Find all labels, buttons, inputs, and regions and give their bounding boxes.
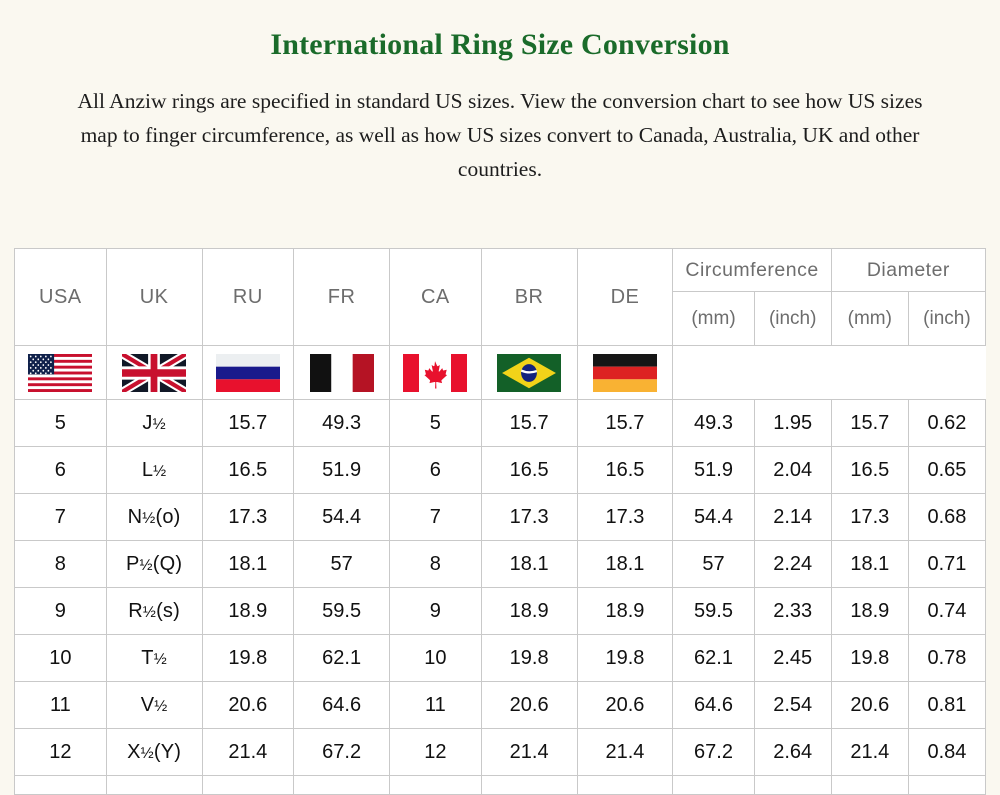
table-row: 12X½(Y)21.467.21221.421.467.22.6421.40.8…: [15, 729, 986, 776]
ring-size-chart-page: International Ring Size Conversion All A…: [0, 0, 1000, 768]
cell-circumference-inch: 2.45: [754, 635, 831, 682]
flag-brazil-icon: [497, 354, 561, 392]
cell-br: 18.1: [481, 541, 577, 588]
cell-de: 18.9: [577, 588, 673, 635]
table-row: 8P½(Q)18.157818.118.1572.2418.10.71: [15, 541, 986, 588]
flag-usa-icon: [28, 354, 92, 392]
partial-cell-fr: [294, 776, 390, 795]
cell-diameter-inch: 0.68: [908, 494, 985, 541]
uk-suffix: (s): [156, 600, 180, 622]
page-title: International Ring Size Conversion: [0, 0, 1000, 62]
cell-ca: 7: [390, 494, 482, 541]
cell-de: 18.1: [577, 541, 673, 588]
cell-uk: J½: [106, 400, 202, 447]
cell-diameter-mm: 20.6: [831, 682, 908, 729]
column-header-uk: UK: [106, 249, 202, 346]
cell-de: 15.7: [577, 400, 673, 447]
uk-fraction: ½: [153, 416, 166, 433]
flag-cell-br: [481, 346, 577, 400]
cell-usa: 9: [15, 588, 107, 635]
conversion-table-container: USA UK RU FR CA BR DE Circumference Diam…: [14, 248, 986, 795]
cell-diameter-mm: 16.5: [831, 447, 908, 494]
cell-br: 21.4: [481, 729, 577, 776]
uk-letter: V: [141, 694, 155, 716]
cell-diameter-mm: 17.3: [831, 494, 908, 541]
cell-de: 20.6: [577, 682, 673, 729]
uk-fraction: ½: [153, 463, 166, 480]
cell-br: 17.3: [481, 494, 577, 541]
flag-cell-ca: [390, 346, 482, 400]
uk-letter: X: [127, 741, 141, 763]
column-header-circumference: Circumference: [673, 249, 831, 292]
partial-cell-de: [577, 776, 673, 795]
cell-uk: R½(s): [106, 588, 202, 635]
cell-fr: 67.2: [294, 729, 390, 776]
cell-diameter-mm: 21.4: [831, 729, 908, 776]
unit-diameter-inch: (inch): [908, 292, 985, 346]
table-flags-row: [15, 346, 986, 400]
cell-usa: 5: [15, 400, 107, 447]
cell-ru: 17.3: [202, 494, 294, 541]
cell-ru: 15.7: [202, 400, 294, 447]
cell-ru: 21.4: [202, 729, 294, 776]
cell-fr: 57: [294, 541, 390, 588]
cell-ca: 9: [390, 588, 482, 635]
partial-cell-usa: [15, 776, 107, 795]
flag-uk-icon: [122, 354, 186, 392]
table-data-body: 5J½15.749.3515.715.749.31.9515.70.626L½1…: [15, 400, 986, 776]
flag-cell-de: [577, 346, 673, 400]
cell-usa: 7: [15, 494, 107, 541]
flag-cell-usa: [15, 346, 107, 400]
cell-ru: 18.9: [202, 588, 294, 635]
cell-ru: 20.6: [202, 682, 294, 729]
flag-cell-uk: [106, 346, 202, 400]
cell-uk: X½(Y): [106, 729, 202, 776]
cell-uk: P½(Q): [106, 541, 202, 588]
cell-diameter-inch: 0.71: [908, 541, 985, 588]
uk-fraction: ½: [154, 698, 167, 715]
partial-cell-circ-mm: [673, 776, 754, 795]
partial-cell-diam-inch: [908, 776, 985, 795]
uk-suffix: (Y): [154, 741, 181, 763]
table-row: 11V½20.664.61120.620.664.62.5420.60.81: [15, 682, 986, 729]
cell-diameter-mm: 18.9: [831, 588, 908, 635]
uk-fraction: ½: [154, 651, 167, 668]
uk-fraction: ½: [140, 557, 153, 574]
unit-circumference-mm: (mm): [673, 292, 754, 346]
unit-diameter-mm: (mm): [831, 292, 908, 346]
unit-circumference-inch: (inch): [754, 292, 831, 346]
uk-letter: L: [142, 459, 153, 481]
cell-diameter-inch: 0.84: [908, 729, 985, 776]
cell-usa: 10: [15, 635, 107, 682]
table-row: 10T½19.862.11019.819.862.12.4519.80.78: [15, 635, 986, 682]
cell-circumference-inch: 2.24: [754, 541, 831, 588]
cell-ca: 10: [390, 635, 482, 682]
cell-circumference-inch: 1.95: [754, 400, 831, 447]
cell-uk: T½: [106, 635, 202, 682]
cell-fr: 62.1: [294, 635, 390, 682]
cell-br: 15.7: [481, 400, 577, 447]
uk-letter: J: [142, 412, 152, 434]
table-row: 9R½(s)18.959.5918.918.959.52.3318.90.74: [15, 588, 986, 635]
cell-uk: L½: [106, 447, 202, 494]
table-row: 7N½(o)17.354.4717.317.354.42.1417.30.68: [15, 494, 986, 541]
cell-br: 20.6: [481, 682, 577, 729]
cell-fr: 59.5: [294, 588, 390, 635]
uk-fraction: ½: [141, 745, 154, 762]
cell-circumference-mm: 54.4: [673, 494, 754, 541]
cell-fr: 54.4: [294, 494, 390, 541]
partial-cell-ru: [202, 776, 294, 795]
cell-uk: N½(o): [106, 494, 202, 541]
cell-circumference-mm: 64.6: [673, 682, 754, 729]
cell-ru: 16.5: [202, 447, 294, 494]
column-header-fr: FR: [294, 249, 390, 346]
cell-ca: 12: [390, 729, 482, 776]
cell-circumference-mm: 49.3: [673, 400, 754, 447]
column-header-ru: RU: [202, 249, 294, 346]
cell-usa: 6: [15, 447, 107, 494]
cell-de: 21.4: [577, 729, 673, 776]
flag-russia-icon: [216, 354, 280, 392]
column-header-usa: USA: [15, 249, 107, 346]
cell-de: 17.3: [577, 494, 673, 541]
cell-de: 16.5: [577, 447, 673, 494]
uk-fraction: ½: [142, 510, 155, 527]
column-header-de: DE: [577, 249, 673, 346]
uk-suffix: (o): [156, 506, 181, 528]
cell-diameter-inch: 0.65: [908, 447, 985, 494]
cell-ru: 19.8: [202, 635, 294, 682]
flag-cell-ru: [202, 346, 294, 400]
cell-usa: 8: [15, 541, 107, 588]
uk-letter: N: [128, 506, 143, 528]
cell-diameter-mm: 18.1: [831, 541, 908, 588]
cell-circumference-inch: 2.33: [754, 588, 831, 635]
cell-usa: 11: [15, 682, 107, 729]
cell-circumference-mm: 59.5: [673, 588, 754, 635]
uk-suffix: (Q): [153, 553, 182, 575]
uk-letter: R: [128, 600, 143, 622]
cell-circumference-mm: 62.1: [673, 635, 754, 682]
flag-france-icon: [310, 354, 374, 392]
cell-br: 16.5: [481, 447, 577, 494]
cell-fr: 49.3: [294, 400, 390, 447]
cell-diameter-mm: 15.7: [831, 400, 908, 447]
cell-fr: 64.6: [294, 682, 390, 729]
cell-circumference-inch: 2.54: [754, 682, 831, 729]
cell-diameter-inch: 0.74: [908, 588, 985, 635]
column-header-br: BR: [481, 249, 577, 346]
cell-diameter-inch: 0.81: [908, 682, 985, 729]
table-row: 5J½15.749.3515.715.749.31.9515.70.62: [15, 400, 986, 447]
cell-ru: 18.1: [202, 541, 294, 588]
partial-cell-br: [481, 776, 577, 795]
partial-cell-ca: [390, 776, 482, 795]
cell-ca: 11: [390, 682, 482, 729]
cell-circumference-inch: 2.14: [754, 494, 831, 541]
cell-diameter-mm: 19.8: [831, 635, 908, 682]
cell-uk: V½: [106, 682, 202, 729]
uk-fraction: ½: [143, 604, 156, 621]
cell-fr: 51.9: [294, 447, 390, 494]
partial-cell-uk: [106, 776, 202, 795]
cell-br: 18.9: [481, 588, 577, 635]
flag-canada-icon: [403, 354, 467, 392]
partial-cell-diam-mm: [831, 776, 908, 795]
ring-size-conversion-table: USA UK RU FR CA BR DE Circumference Diam…: [14, 248, 986, 795]
column-header-ca: CA: [390, 249, 482, 346]
cell-ca: 5: [390, 400, 482, 447]
uk-letter: P: [126, 553, 140, 575]
cell-ca: 8: [390, 541, 482, 588]
cell-de: 19.8: [577, 635, 673, 682]
partial-cell-circ-inch: [754, 776, 831, 795]
cell-usa: 12: [15, 729, 107, 776]
cell-diameter-inch: 0.62: [908, 400, 985, 447]
intro-paragraph: All Anziw rings are specified in standar…: [60, 62, 940, 186]
table-partial-row: [15, 776, 986, 795]
cell-ca: 6: [390, 447, 482, 494]
uk-letter: T: [141, 647, 153, 669]
table-row: 6L½16.551.9616.516.551.92.0416.50.65: [15, 447, 986, 494]
cell-circumference-inch: 2.04: [754, 447, 831, 494]
column-header-diameter: Diameter: [831, 249, 985, 292]
cell-br: 19.8: [481, 635, 577, 682]
flag-germany-icon: [593, 354, 657, 392]
cell-diameter-inch: 0.78: [908, 635, 985, 682]
flag-cell-fr: [294, 346, 390, 400]
cell-circumference-inch: 2.64: [754, 729, 831, 776]
cell-circumference-mm: 51.9: [673, 447, 754, 494]
cell-circumference-mm: 57: [673, 541, 754, 588]
cell-circumference-mm: 67.2: [673, 729, 754, 776]
table-header-label-row: USA UK RU FR CA BR DE Circumference Diam…: [15, 249, 986, 292]
